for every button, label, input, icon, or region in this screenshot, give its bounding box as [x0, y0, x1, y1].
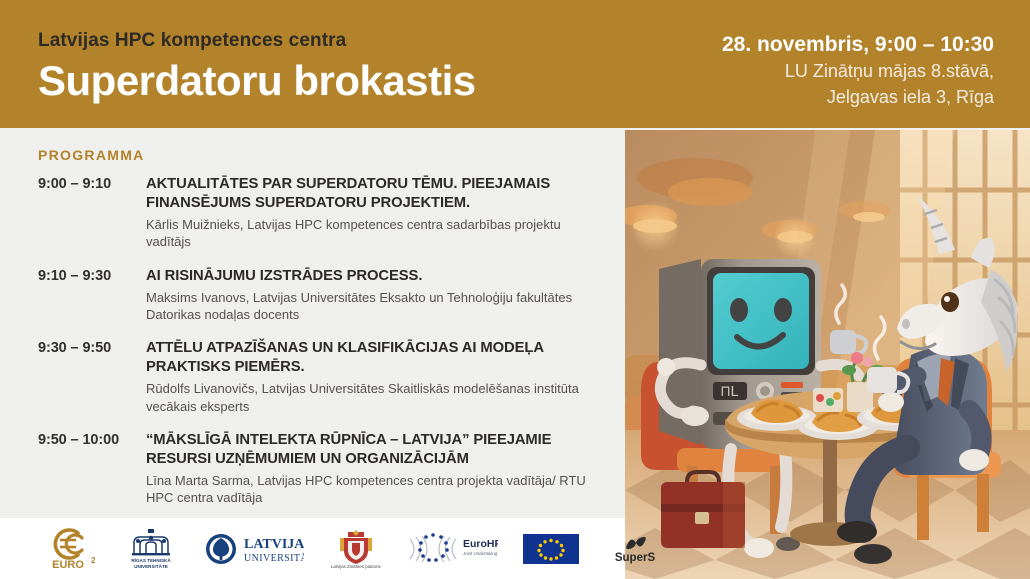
agenda-item-speaker: Rūdolfs Livanovičs, Latvijas Universitāt… — [146, 380, 598, 415]
svg-text:LATVIJAS: LATVIJAS — [244, 537, 304, 552]
page-title: Superdatoru brokastis — [38, 57, 476, 104]
agenda-item-speaker: Maksims Ivanovs, Latvijas Universitātes … — [146, 289, 598, 324]
eu-flag-logo — [520, 527, 582, 571]
agenda-item-time: 9:30 – 9:50 — [38, 339, 146, 356]
event-venue-line-1: LU Zinātņu mājas 8.stāvā, — [722, 58, 994, 84]
event-illustration: ⊓L — [625, 130, 1030, 579]
svg-text:RĪGAS TEHNISKĀ: RĪGAS TEHNISKĀ — [131, 557, 171, 563]
euro2-logo: EURO 2 — [46, 527, 98, 571]
agenda-item-time: 9:10 – 9:30 — [38, 267, 146, 284]
agenda-item-speaker: Kārlis Muižnieks, Latvijas HPC kompetenc… — [146, 216, 598, 251]
sponsor-logo-strip: EURO 2 — [46, 518, 666, 579]
agenda-item-time: 9:50 – 10:00 — [38, 431, 146, 448]
agenda-item-body: ATTĒLU ATPAZĪŠANAS UN KLASIFIKĀCIJAS AI … — [146, 339, 598, 415]
agenda-item-body: AI RISINĀJUMU IZSTRĀDES PROCESS. Maksims… — [146, 267, 598, 324]
svg-text:EURO: EURO — [52, 559, 84, 571]
programme-label: PROGRAMMA — [38, 147, 145, 163]
agenda-item-title: AKTUALITĀTES PAR SUPERDATORU TĒMU. PIEEJ… — [146, 175, 598, 213]
rtu-logo: RĪGAS TEHNISKĀ UNIVERSITĀTE — [120, 527, 182, 571]
agenda-list: 9:00 – 9:10 AKTUALITĀTES PAR SUPERDATORU… — [38, 175, 598, 542]
sponsor-footer: EURO 2 — [0, 518, 625, 579]
svg-text:Joint Undertaking: Joint Undertaking — [463, 551, 498, 556]
agenda-item: 9:00 – 9:10 AKTUALITĀTES PAR SUPERDATORU… — [38, 175, 598, 251]
agenda-item-time: 9:00 – 9:10 — [38, 175, 146, 192]
svg-text:UNIVERSITĀTE: UNIVERSITĀTE — [134, 563, 168, 569]
event-date: 28. novembris, 9:00 – 10:30 — [722, 32, 994, 58]
agenda-item: 9:50 – 10:00 “MĀKSLĪGĀ INTELEKTA RŪPNĪCA… — [38, 431, 598, 507]
agenda-item-title: AI RISINĀJUMU IZSTRĀDES PROCESS. — [146, 267, 598, 286]
poster-header: Latvijas HPC kompetences centra Superdat… — [0, 0, 1030, 128]
lzp-logo: Latvijas Zinātnes padome — [326, 527, 386, 571]
eurohpc-logo: EuroHPC Joint Undertaking — [408, 527, 498, 571]
header-eyebrow: Latvijas HPC kompetences centra — [38, 30, 476, 53]
lu-logo: LATVIJAS UNIVERSITĀTE — [204, 527, 304, 571]
agenda-item: 9:30 – 9:50 ATTĒLU ATPAZĪŠANAS UN KLASIF… — [38, 339, 598, 415]
supers-logo: SuperS — [604, 527, 666, 571]
svg-text:EuroHPC: EuroHPC — [463, 538, 498, 550]
agenda-item: 9:10 – 9:30 AI RISINĀJUMU IZSTRĀDES PROC… — [38, 267, 598, 324]
agenda-item-speaker: Līna Marta Sarma, Latvijas HPC kompetenc… — [146, 472, 598, 507]
agenda-item-body: “MĀKSLĪGĀ INTELEKTA RŪPNĪCA – LATVIJA” P… — [146, 431, 598, 507]
agenda-item-title: ATTĒLU ATPAZĪŠANAS UN KLASIFIKĀCIJAS AI … — [146, 339, 598, 377]
svg-text:SuperS: SuperS — [615, 552, 656, 564]
agenda-item-title: “MĀKSLĪGĀ INTELEKTA RŪPNĪCA – LATVIJA” P… — [146, 431, 598, 469]
header-right-block: 28. novembris, 9:00 – 10:30 LU Zinātņu m… — [722, 32, 994, 110]
event-venue-line-2: Jelgavas iela 3, Rīga — [722, 84, 994, 110]
svg-text:Latvijas Zinātnes padome: Latvijas Zinātnes padome — [331, 564, 382, 569]
agenda-item-body: AKTUALITĀTES PAR SUPERDATORU TĒMU. PIEEJ… — [146, 175, 598, 251]
svg-text:2: 2 — [91, 556, 96, 565]
svg-text:UNIVERSITĀTE: UNIVERSITĀTE — [244, 553, 304, 564]
illustration-graphic: ⊓L — [625, 130, 1030, 579]
header-left-block: Latvijas HPC kompetences centra Superdat… — [38, 30, 476, 104]
poster-root: Latvijas HPC kompetences centra Superdat… — [0, 0, 1030, 579]
